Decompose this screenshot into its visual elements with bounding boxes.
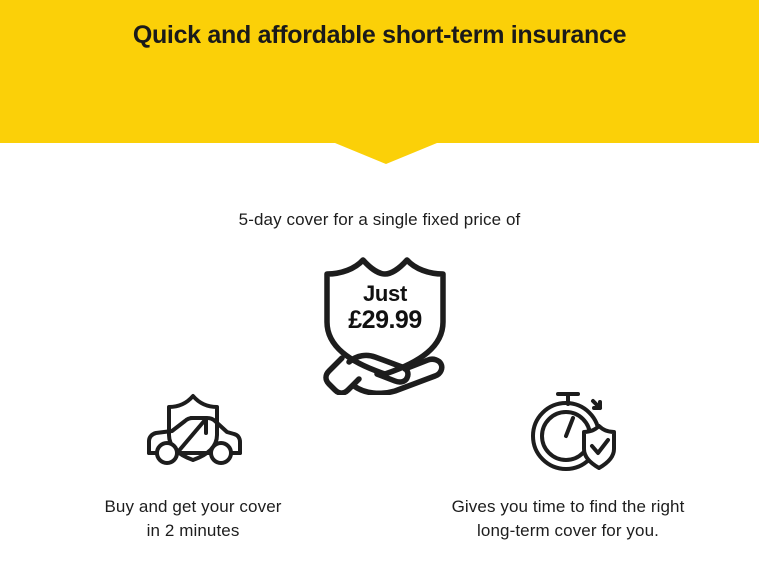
feature-caption-line-1: Buy and get your cover [28,495,358,519]
feature-card-buy-fast: Buy and get your cover in 2 minutes [28,385,358,543]
car-shield-arrow-icon [28,385,358,477]
price-lede-text: 5-day cover for a single fixed price of [0,210,759,230]
banner-subtitle: Quick and affordable short-term insuranc… [0,20,759,50]
feature-caption-buy-fast: Buy and get your cover in 2 minutes [28,495,358,543]
feature-caption-line-2: long-term cover for you. [403,519,733,543]
stopwatch-shield-check-icon [403,385,733,477]
feature-caption-line-2: in 2 minutes [28,519,358,543]
feature-caption-line-1: Gives you time to find the right [403,495,733,519]
feature-caption-time-to-choose: Gives you time to find the right long-te… [403,495,733,543]
header-banner: Short-term car insurance Quick and affor… [0,0,759,143]
feature-card-time-to-choose: Gives you time to find the right long-te… [403,385,733,543]
banner-title: Short-term car insurance [0,0,759,3]
shield-in-hand-icon [305,250,465,395]
chevron-down-notch-icon [335,143,437,164]
